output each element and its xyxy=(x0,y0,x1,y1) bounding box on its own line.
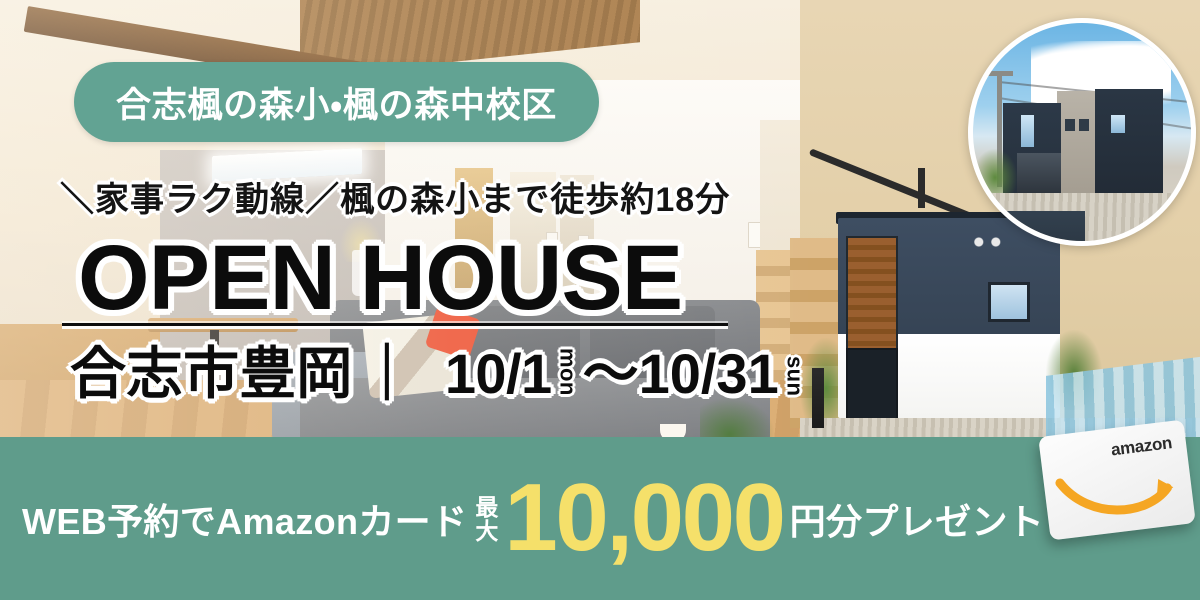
promo-max-line-1: 最 xyxy=(475,496,498,520)
promo-max-line-2: 大 xyxy=(475,520,498,544)
title-divider xyxy=(62,323,728,326)
wood-garage-door xyxy=(846,236,898,350)
window xyxy=(1065,119,1075,131)
event-end-date: 10/31 xyxy=(639,346,779,402)
entry-door xyxy=(846,348,898,424)
event-start-weekday: mon xyxy=(557,348,579,396)
promo-suffix-text: 円分プレゼント xyxy=(790,493,1045,545)
tagline-text: ＼家事ラク動線／楓の森小まで徒歩約18分 xyxy=(60,172,730,221)
school-district-badge: 合志楓の森小・楓の森中校区 xyxy=(74,62,599,142)
school-district-label: 合志楓の森小・楓の森中校区 xyxy=(116,77,557,128)
foreground-wall xyxy=(973,211,1085,246)
event-end-weekday: sun xyxy=(784,356,806,396)
window xyxy=(1021,115,1034,147)
window xyxy=(1079,119,1089,131)
house-photo-circle xyxy=(968,18,1196,246)
event-details-row: 合志市豊岡 ｜ 10/1 mon ～ 10/31 sun xyxy=(70,346,810,402)
bollard-light xyxy=(812,368,824,428)
house-volume-dark xyxy=(1095,89,1163,199)
date-range-separator: ～ xyxy=(583,346,639,402)
facade-window xyxy=(988,282,1030,322)
amazon-gift-card: amazon xyxy=(1038,419,1196,540)
promo-amount: 10,000 xyxy=(504,474,783,562)
entry-porch xyxy=(1017,153,1061,193)
page-title: OPEN HOUSE xyxy=(78,232,682,324)
detail-separator: ｜ xyxy=(359,346,415,402)
promo-prefix-text: WEB予約でAmazonカード xyxy=(22,493,467,545)
window xyxy=(1111,115,1125,133)
promo-banner: WEB予約でAmazonカード 最 大 10,000 円分プレゼント xyxy=(0,437,1200,600)
handrail-post xyxy=(918,168,925,208)
promo-inner: WEB予約でAmazonカード 最 大 10,000 円分プレゼント xyxy=(0,471,1044,567)
event-start-date: 10/1 xyxy=(445,346,552,402)
promo-max-label: 最 大 xyxy=(475,496,498,544)
open-house-promo-banner: 合志楓の森小・楓の森中校区 ＼家事ラク動線／楓の森小まで徒歩約18分 OPEN … xyxy=(0,0,1200,600)
amazon-smile-icon xyxy=(1051,447,1185,532)
utility-pole-crossarm xyxy=(987,71,1013,76)
event-location: 合志市豊岡 xyxy=(70,346,353,402)
